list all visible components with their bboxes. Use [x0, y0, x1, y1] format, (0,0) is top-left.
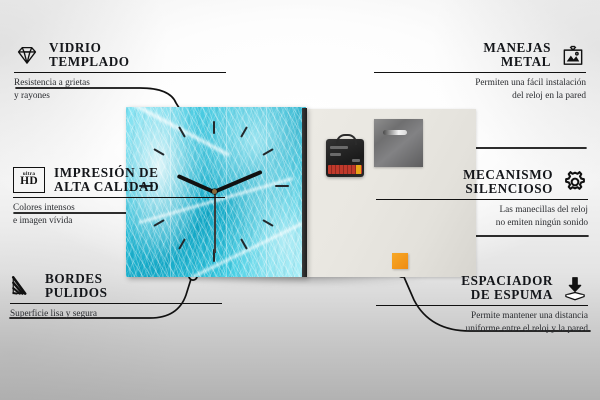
- feature-title: BORDES PULIDOS: [45, 272, 107, 299]
- title-line: METAL: [483, 55, 551, 69]
- feature-header: MECANISMO SILENCIOSO: [376, 168, 588, 195]
- feature-title: MECANISMO SILENCIOSO: [463, 168, 553, 195]
- title-line: MECANISMO: [463, 168, 553, 182]
- feature-header: VIDRIO TEMPLADO: [14, 41, 226, 68]
- title-line: DE ESPUMA: [461, 288, 553, 302]
- ultra-hd-badge-icon: ultra HD: [13, 167, 45, 193]
- feature-title: IMPRESIÓN DE ALTA CALIDAD: [54, 166, 159, 193]
- feature-header: ESPACIADOR DE ESPUMA: [376, 274, 588, 301]
- battery-compartment: [328, 165, 362, 174]
- hanger-slot: [383, 130, 407, 135]
- feature-description: Las manecillas del reloj no emiten ningú…: [376, 204, 588, 229]
- divider: [376, 199, 588, 200]
- title-line: ESPACIADOR: [461, 274, 553, 288]
- feature-vidrio-templado: VIDRIO TEMPLADO Resistencia a grietas y …: [14, 41, 226, 102]
- desc-line: uniforme entre el reloj y la pared: [466, 324, 588, 334]
- desc-line: del reloj en la pared: [512, 91, 586, 101]
- feature-espaciador-espuma: ESPACIADOR DE ESPUMA Permite mantener un…: [376, 274, 588, 335]
- mechanism-detail: [330, 146, 348, 149]
- feature-manejas-metal: MANEJAS METAL Permiten una fácil instala…: [374, 41, 586, 102]
- desc-line: Colores intensos: [13, 203, 75, 213]
- divider: [14, 72, 226, 73]
- feature-header: MANEJAS METAL: [374, 41, 586, 68]
- desc-line: Permiten una fácil instalación: [475, 78, 586, 88]
- mechanism-detail: [352, 159, 360, 162]
- title-line: ALTA CALIDAD: [54, 180, 159, 194]
- foam-spacer-pad: [392, 253, 408, 269]
- divider: [374, 72, 586, 73]
- title-line: MANEJAS: [483, 41, 551, 55]
- feature-bordes-pulidos: BORDES PULIDOS Superficie lisa y segura: [10, 272, 222, 321]
- feature-title: ESPACIADOR DE ESPUMA: [461, 274, 553, 301]
- desc-line: e imagen vívida: [13, 216, 72, 226]
- feature-description: Permiten una fácil instalación del reloj…: [374, 77, 586, 102]
- foam-spacer-arrow-icon: [562, 275, 588, 301]
- desc-line: Resistencia a grietas: [14, 78, 90, 88]
- infographic-canvas: VIDRIO TEMPLADO Resistencia a grietas y …: [0, 0, 600, 400]
- gear-icon: [562, 169, 588, 195]
- picture-frame-hanger-icon: [560, 42, 586, 68]
- glass-seam: [226, 107, 227, 277]
- title-line: TEMPLADO: [49, 55, 130, 69]
- feature-header: ultra HD IMPRESIÓN DE ALTA CALIDAD: [13, 166, 225, 193]
- desc-line: y rayones: [14, 91, 50, 101]
- feature-header: BORDES PULIDOS: [10, 272, 222, 299]
- divider: [376, 305, 588, 306]
- clock-tick: [275, 185, 289, 187]
- title-line: IMPRESIÓN DE: [54, 166, 159, 180]
- desc-line: Superficie lisa y segura: [10, 309, 97, 319]
- feature-title: VIDRIO TEMPLADO: [49, 41, 130, 68]
- feature-mecanismo-silencioso: MECANISMO SILENCIOSO Las manecillas del …: [376, 168, 588, 229]
- feature-impresion-alta-calidad: ultra HD IMPRESIÓN DE ALTA CALIDAD Color…: [13, 166, 225, 227]
- desc-line: no emiten ningún sonido: [496, 218, 588, 228]
- desc-line: Las manecillas del reloj: [499, 205, 588, 215]
- divider: [13, 197, 225, 198]
- feature-title: MANEJAS METAL: [483, 41, 551, 68]
- clock-side-edge: [302, 108, 307, 277]
- quartz-clock-mechanism: [326, 139, 364, 177]
- title-line: BORDES: [45, 272, 107, 286]
- badge-main-text: HD: [20, 176, 38, 188]
- mechanism-hook: [336, 134, 357, 145]
- feature-description: Permite mantener una distancia uniforme …: [376, 310, 588, 335]
- glass-seam: [266, 107, 267, 277]
- feature-description: Colores intensos e imagen vívida: [13, 202, 225, 227]
- title-line: PULIDOS: [45, 286, 107, 300]
- polished-edges-icon: [10, 273, 36, 299]
- feature-description: Resistencia a grietas y rayones: [14, 77, 226, 102]
- divider: [10, 303, 222, 304]
- feature-description: Superficie lisa y segura: [10, 308, 222, 320]
- diamond-icon: [14, 42, 40, 68]
- clock-tick: [213, 121, 215, 134]
- metal-hanger-plate: [374, 119, 423, 167]
- title-line: SILENCIOSO: [463, 182, 553, 196]
- mechanism-detail: [330, 153, 341, 156]
- desc-line: Permite mantener una distancia: [471, 311, 588, 321]
- title-line: VIDRIO: [49, 41, 130, 55]
